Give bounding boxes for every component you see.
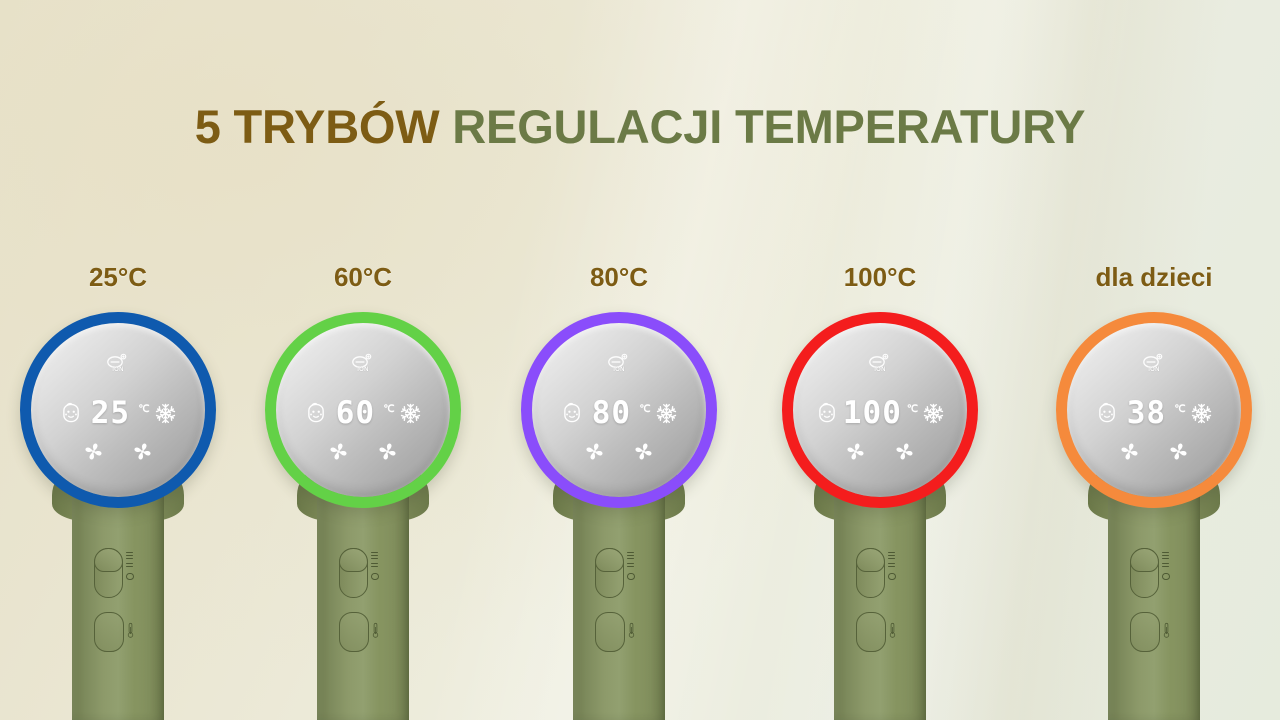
device-4: 100°C ION: [770, 0, 990, 720]
head-ring: [782, 312, 978, 508]
hairdryer-head: ION 80 ℃: [521, 312, 717, 508]
slider-speed-marks: [1162, 552, 1178, 594]
speed-mark-2: [126, 563, 133, 567]
hairdryer-head: ION 60 ℃: [265, 312, 461, 508]
speed-mark-2: [888, 563, 895, 567]
device-label: 25°C: [8, 262, 228, 293]
speed-mark-off: [888, 573, 896, 581]
slider-thumb[interactable]: [1130, 548, 1159, 572]
speed-mark-3: [1162, 552, 1169, 559]
speed-mark-3: [627, 552, 634, 559]
cool-shot-button[interactable]: [94, 612, 124, 652]
poster-canvas: 5 TRYBÓW REGULACJI TEMPERATURY 25°C ION: [0, 0, 1280, 720]
head-ring: [521, 312, 717, 508]
device-3: 80°C ION: [509, 0, 729, 720]
head-ring: [265, 312, 461, 508]
thermometer-icon: [628, 622, 635, 639]
device-2: 60°C ION: [253, 0, 473, 720]
power-slider-switch[interactable]: [339, 548, 368, 598]
speed-mark-2: [371, 563, 378, 567]
slider-thumb[interactable]: [94, 548, 123, 572]
device-label: 100°C: [770, 262, 990, 293]
device-label: 80°C: [509, 262, 729, 293]
device-5: dla dzieci ION: [1044, 0, 1264, 720]
device-label: 60°C: [253, 262, 473, 293]
power-slider-switch[interactable]: [94, 548, 123, 598]
slider-thumb[interactable]: [856, 548, 885, 572]
speed-mark-2: [1162, 563, 1169, 567]
head-ring: [1056, 312, 1252, 508]
power-slider-switch[interactable]: [595, 548, 624, 598]
hairdryer-head: ION 38 ℃: [1056, 312, 1252, 508]
slider-speed-marks: [126, 552, 142, 594]
hairdryer-head: ION 100 ℃: [782, 312, 978, 508]
thermometer-icon: [1163, 622, 1170, 639]
speed-mark-off: [1162, 573, 1170, 581]
speed-mark-off: [371, 573, 379, 581]
power-slider-switch[interactable]: [1130, 548, 1159, 598]
power-slider-switch[interactable]: [856, 548, 885, 598]
device-label: dla dzieci: [1044, 262, 1264, 293]
slider-thumb[interactable]: [339, 548, 368, 572]
cool-shot-button[interactable]: [856, 612, 886, 652]
slider-speed-marks: [888, 552, 904, 594]
device-row: 25°C ION: [0, 0, 1280, 720]
speed-mark-off: [126, 573, 134, 581]
speed-mark-3: [371, 552, 378, 559]
cool-shot-button[interactable]: [339, 612, 369, 652]
speed-mark-3: [888, 552, 895, 559]
cool-shot-button[interactable]: [1130, 612, 1160, 652]
slider-thumb[interactable]: [595, 548, 624, 572]
speed-mark-3: [126, 552, 133, 559]
device-1: 25°C ION: [8, 0, 228, 720]
speed-mark-2: [627, 563, 634, 567]
thermometer-icon: [889, 622, 896, 639]
hairdryer-head: ION 25 ℃: [20, 312, 216, 508]
speed-mark-off: [627, 573, 635, 581]
slider-speed-marks: [371, 552, 387, 594]
thermometer-icon: [127, 622, 134, 639]
slider-speed-marks: [627, 552, 643, 594]
thermometer-icon: [372, 622, 379, 639]
head-ring: [20, 312, 216, 508]
cool-shot-button[interactable]: [595, 612, 625, 652]
